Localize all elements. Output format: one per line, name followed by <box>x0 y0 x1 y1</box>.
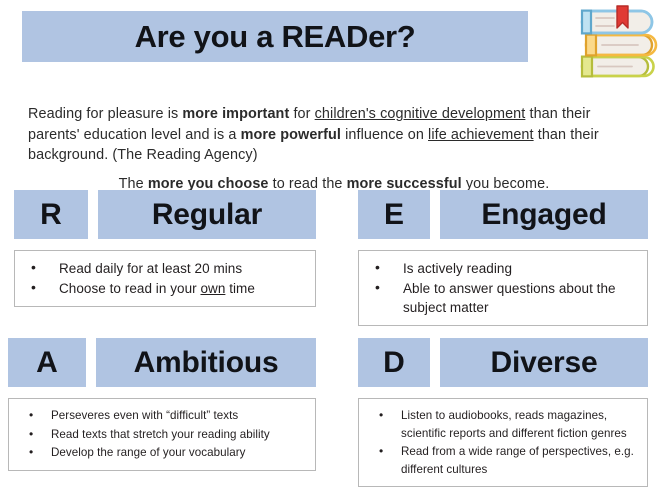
middle-book-orange <box>586 35 656 56</box>
reader-acronym-grid: R Regular Read daily for at least 20 min… <box>0 190 668 501</box>
letter-box-d: D <box>358 338 430 387</box>
bullet-box-ambitious: Perseveres even with “difficult” texts R… <box>8 398 316 471</box>
word-box-engaged: Engaged <box>440 190 648 239</box>
bullet-text-underline: own <box>200 281 225 296</box>
intro-bold-more-powerful: more powerful <box>241 127 341 143</box>
block-diverse-header: D Diverse <box>358 338 648 387</box>
title-banner: Are you a READer? <box>22 11 528 62</box>
intro-part-2: for <box>289 106 314 122</box>
list-item: Listen to audiobooks, reads magazines, s… <box>365 407 641 442</box>
letter-box-r: R <box>14 190 88 239</box>
list-item: Read daily for at least 20 mins <box>21 259 309 278</box>
block-engaged: E Engaged Is actively reading Able to an… <box>358 190 648 326</box>
list-item: Able to answer questions about the subje… <box>365 279 641 317</box>
intro-underline-life-achievement: life achievement <box>428 127 534 143</box>
intro-underline-cognitive-development: children's cognitive development <box>315 106 526 122</box>
block-regular: R Regular Read daily for at least 20 min… <box>14 190 316 307</box>
page-title: Are you a READer? <box>135 19 416 55</box>
bullet-box-engaged: Is actively reading Able to answer quest… <box>358 250 648 326</box>
bullet-list-diverse: Listen to audiobooks, reads magazines, s… <box>365 407 641 478</box>
bullet-box-regular: Read daily for at least 20 mins Choose t… <box>14 250 316 307</box>
list-item: Read from a wide range of perspectives, … <box>365 443 641 478</box>
list-item: Read texts that stretch your reading abi… <box>15 426 309 444</box>
bullet-list-ambitious: Perseveres even with “difficult” texts R… <box>15 407 309 462</box>
bullet-text-pre: Choose to read in your <box>59 281 200 296</box>
block-engaged-header: E Engaged <box>358 190 648 239</box>
top-book-blue <box>582 6 652 33</box>
bottom-book-green <box>582 57 654 77</box>
intro-bold-more-important: more important <box>182 106 289 122</box>
header: Are you a READer? <box>0 0 668 86</box>
block-diverse: D Diverse Listen to audiobooks, reads ma… <box>358 338 648 487</box>
list-item: Perseveres even with “difficult” texts <box>15 407 309 425</box>
word-box-diverse: Diverse <box>440 338 648 387</box>
intro-part-4: influence on <box>341 127 428 143</box>
bullet-box-diverse: Listen to audiobooks, reads magazines, s… <box>358 398 648 487</box>
intro-paragraph: Reading for pleasure is more important f… <box>28 104 642 166</box>
block-regular-header: R Regular <box>14 190 316 239</box>
list-item: Choose to read in your own time <box>21 279 309 298</box>
bullet-list-regular: Read daily for at least 20 mins Choose t… <box>21 259 309 298</box>
block-ambitious-header: A Ambitious <box>8 338 316 387</box>
word-box-regular: Regular <box>98 190 316 239</box>
word-box-ambitious: Ambitious <box>96 338 316 387</box>
list-item: Is actively reading <box>365 259 641 278</box>
letter-box-a: A <box>8 338 86 387</box>
book-stack-icon <box>576 2 662 80</box>
intro-part-1: Reading for pleasure is <box>28 106 182 122</box>
block-ambitious: A Ambitious Perseveres even with “diffic… <box>8 338 316 471</box>
bullet-text-post: time <box>225 281 255 296</box>
list-item: Develop the range of your vocabulary <box>15 444 309 462</box>
bullet-list-engaged: Is actively reading Able to answer quest… <box>365 259 641 317</box>
letter-box-e: E <box>358 190 430 239</box>
